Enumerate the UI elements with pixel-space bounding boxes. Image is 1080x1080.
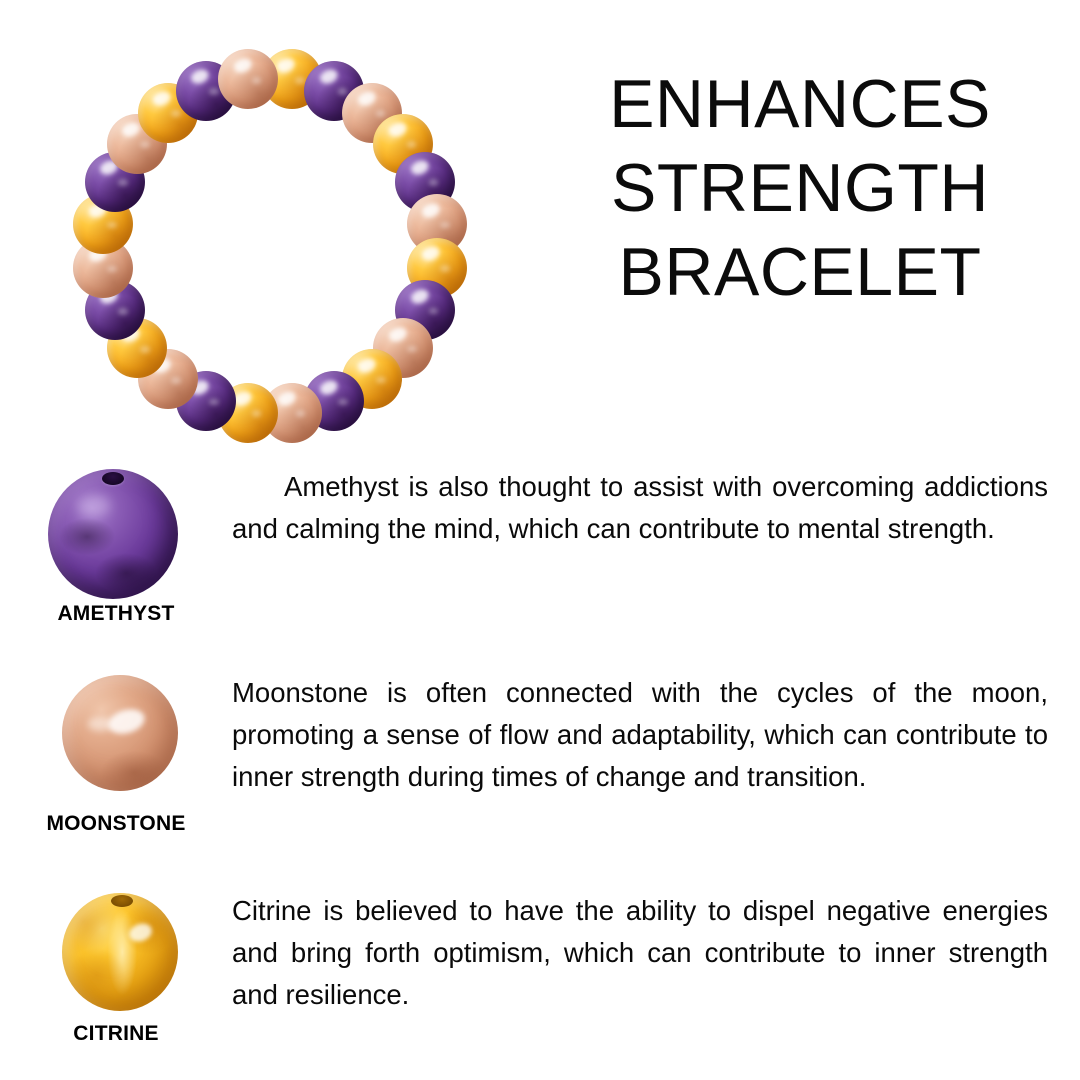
- bead-specular-highlight: [387, 325, 409, 344]
- bead-drill-hole-icon: [102, 472, 124, 485]
- bead-secondary-highlight: [440, 265, 450, 272]
- bead-secondary-highlight: [107, 222, 117, 229]
- page-title: ENHANCES STRENGTH BRACELET: [552, 62, 1048, 314]
- stone-description-moonstone: Moonstone is often connected with the cy…: [232, 672, 1048, 798]
- hero-section: ENHANCES STRENGTH BRACELET: [0, 0, 1080, 458]
- bracelet-bead-ring: [72, 48, 468, 444]
- bead-secondary-highlight: [338, 88, 348, 95]
- citrine-bead-swatch-icon: [62, 893, 178, 1011]
- bead-secondary-highlight: [118, 308, 128, 315]
- stone-label-moonstone: MOONSTONE: [0, 812, 232, 836]
- bead-secondary-highlight: [338, 399, 348, 406]
- stone-description-amethyst: Amethyst is also thought to assist with …: [232, 466, 1048, 550]
- bead-specular-highlight: [420, 244, 442, 263]
- bead-specular-highlight: [318, 378, 340, 397]
- bead-secondary-highlight: [252, 77, 262, 84]
- bead-specular-highlight: [276, 389, 298, 408]
- stone-label-citrine: CITRINE: [0, 1022, 232, 1046]
- bead-specular-highlight: [356, 89, 378, 108]
- bead-secondary-highlight: [140, 346, 150, 353]
- bead-secondary-highlight: [118, 179, 128, 186]
- bead-specular-highlight: [420, 200, 442, 219]
- bead-specular-highlight: [232, 56, 254, 75]
- bead-secondary-highlight: [209, 399, 219, 406]
- bead-secondary-highlight: [171, 110, 181, 117]
- bead-specular-highlight: [189, 67, 211, 86]
- title-line-1: ENHANCES: [552, 62, 1048, 146]
- amethyst-bead-swatch-icon: [48, 469, 178, 599]
- swatch-highlight: [77, 495, 111, 517]
- bead-secondary-highlight: [429, 308, 439, 315]
- bead-secondary-highlight: [429, 179, 439, 186]
- stone-label-amethyst: AMETHYST: [0, 602, 232, 626]
- bead-secondary-highlight: [296, 410, 306, 417]
- bead-secondary-highlight: [107, 266, 117, 273]
- bead-secondary-highlight: [252, 410, 262, 417]
- bracelet-product-photo: [72, 48, 468, 444]
- bead-specular-highlight: [318, 67, 340, 86]
- title-line-2: STRENGTH: [552, 146, 1048, 230]
- bead-secondary-highlight: [376, 377, 386, 384]
- stone-figure-amethyst: AMETHYST: [0, 466, 232, 636]
- bead-specular-highlight: [409, 158, 431, 177]
- swatch-highlight: [106, 705, 148, 738]
- bead-specular-highlight: [387, 120, 409, 139]
- stone-section-amethyst: AMETHYST Amethyst is also thought to ass…: [0, 466, 1080, 636]
- bead-secondary-highlight: [376, 110, 386, 117]
- bead-drill-hole-icon: [111, 895, 133, 907]
- bead-specular-highlight: [151, 89, 173, 108]
- bead-secondary-highlight: [209, 88, 219, 95]
- bead-secondary-highlight: [295, 77, 305, 84]
- bead-specular-highlight: [275, 56, 297, 75]
- stone-section-citrine: CITRINE Citrine is believed to have the …: [0, 890, 1080, 1052]
- moonstone-bead-swatch-icon: [62, 675, 178, 791]
- bracelet-bead-moonstone: [218, 49, 278, 109]
- stone-description-citrine: Citrine is believed to have the ability …: [232, 890, 1048, 1016]
- stone-section-moonstone: MOONSTONE Moonstone is often connected w…: [0, 672, 1080, 844]
- title-line-3: BRACELET: [552, 230, 1048, 314]
- bead-specular-highlight: [356, 356, 378, 375]
- bead-secondary-highlight: [171, 377, 181, 384]
- bead-specular-highlight: [409, 287, 431, 306]
- bead-secondary-highlight: [140, 141, 150, 148]
- bead-secondary-highlight: [407, 141, 417, 148]
- stone-figure-moonstone: MOONSTONE: [0, 672, 232, 844]
- bead-secondary-highlight: [407, 346, 417, 353]
- bead-secondary-highlight: [440, 222, 450, 229]
- swatch-highlight: [127, 920, 154, 943]
- stone-figure-citrine: CITRINE: [0, 890, 232, 1052]
